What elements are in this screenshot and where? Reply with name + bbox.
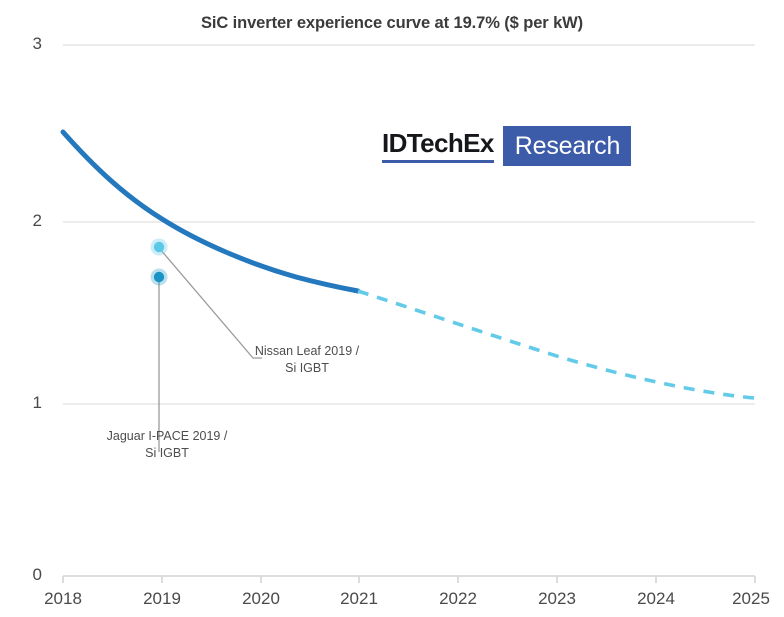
data-point-nissan-leaf[interactable] <box>151 239 168 256</box>
y-tick-0: 0 <box>8 565 42 585</box>
x-tick-2024: 2024 <box>621 589 691 609</box>
logo-underline <box>382 160 494 163</box>
series-solid-line <box>63 132 358 291</box>
x-tick-2018: 2018 <box>28 589 98 609</box>
y-tick-1: 1 <box>8 393 42 413</box>
series-dashed-line <box>358 291 755 398</box>
y-tick-2: 2 <box>8 211 42 231</box>
x-tick-2023: 2023 <box>522 589 592 609</box>
x-tick-2025: 2025 <box>716 589 784 609</box>
x-tick-2020: 2020 <box>226 589 296 609</box>
annotation-jaguar-ipace: Jaguar I-PACE 2019 / Si IGBT <box>84 428 250 462</box>
annotation-nissan-leaf: Nissan Leaf 2019 / Si IGBT <box>232 343 382 377</box>
chart-container: SiC inverter experience curve at 19.7% (… <box>0 0 784 617</box>
x-tick-2021: 2021 <box>324 589 394 609</box>
logo-research-badge: Research <box>503 126 631 166</box>
logo-wordmark-block: IDTechEx <box>382 126 503 166</box>
chart-plot-area <box>0 0 784 617</box>
idtechex-research-logo: IDTechEx Research <box>382 126 631 166</box>
y-tick-3: 3 <box>8 34 42 54</box>
x-axis <box>63 576 755 583</box>
data-point-jaguar-ipace[interactable] <box>151 269 168 286</box>
logo-wordmark-text: IDTechEx <box>382 130 494 156</box>
logo-research-text: Research <box>515 134 620 159</box>
x-tick-2022: 2022 <box>423 589 493 609</box>
x-tick-2019: 2019 <box>127 589 197 609</box>
